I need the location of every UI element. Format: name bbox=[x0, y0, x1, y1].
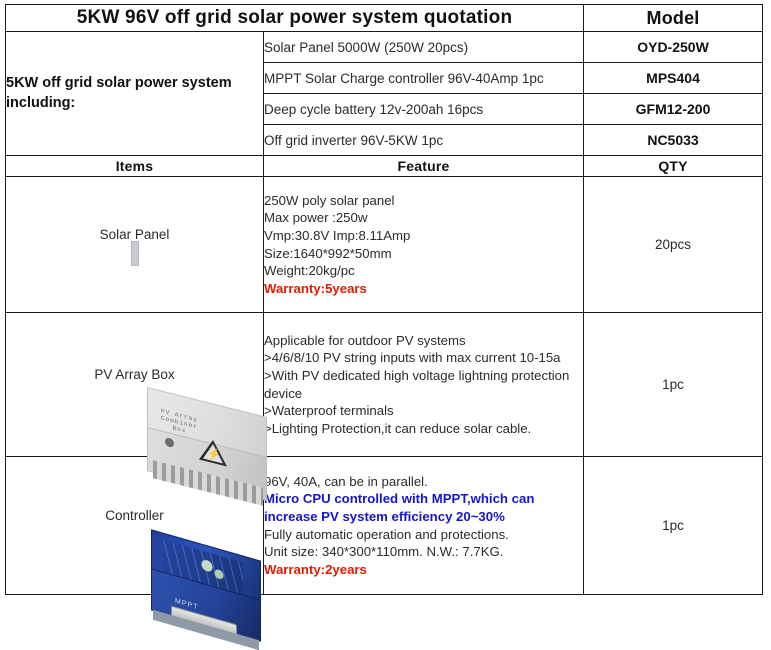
warranty-line: Warranty:5years bbox=[264, 280, 583, 298]
feature-line: 96V, 40A, can be in parallel. bbox=[264, 473, 583, 491]
document-title: 5KW 96V off grid solar power system quot… bbox=[6, 5, 584, 32]
table-row: Solar Panel 250W poly solar panel Max po… bbox=[6, 177, 763, 313]
feature-line: Max power :250w bbox=[264, 209, 583, 227]
component-model: NC5033 bbox=[584, 125, 763, 156]
title-row: 5KW 96V off grid solar power system quot… bbox=[6, 5, 763, 32]
item-cell-pv-array-box: PV Array Box PV Array Combiner Box ⚡ bbox=[6, 313, 264, 457]
summary-row-1: 5KW off grid solar power system includin… bbox=[6, 32, 763, 63]
item-cell-solar-panel: Solar Panel bbox=[6, 177, 264, 313]
feature-cell-solar-panel: 250W poly solar panel Max power :250w Vm… bbox=[264, 177, 584, 313]
feature-line: >4/6/8/10 PV string inputs with max curr… bbox=[264, 349, 583, 367]
solar-panel-icon bbox=[131, 241, 139, 266]
feature-line: Fully automatic operation and protection… bbox=[264, 526, 583, 544]
item-name-label: PV Array Box bbox=[6, 367, 263, 382]
feature-line: Size:1640*992*50mm bbox=[264, 245, 583, 263]
feature-line: Vmp:30.8V Imp:8.11Amp bbox=[264, 227, 583, 245]
warranty-line: Warranty:2years bbox=[264, 561, 583, 579]
feature-line: >Lighting Protection,it can reduce solar… bbox=[264, 420, 583, 438]
items-column-header: Items bbox=[6, 156, 264, 177]
item-name-label: Solar Panel bbox=[6, 227, 263, 242]
feature-line: 250W poly solar panel bbox=[264, 192, 583, 210]
feature-line-highlight: Micro CPU controlled with MPPT,which can… bbox=[264, 490, 583, 525]
feature-cell-controller: 96V, 40A, can be in parallel. Micro CPU … bbox=[264, 457, 584, 595]
component-description: Deep cycle battery 12v-200ah 16pcs bbox=[264, 94, 584, 125]
component-description: Off grid inverter 96V-5KW 1pc bbox=[264, 125, 584, 156]
feature-line: >Waterproof terminals bbox=[264, 402, 583, 420]
component-model: GFM12-200 bbox=[584, 94, 763, 125]
system-including-label: 5KW off grid solar power system includin… bbox=[6, 32, 264, 156]
feature-column-header: Feature bbox=[264, 156, 584, 177]
feature-line: Weight:20kg/pc bbox=[264, 262, 583, 280]
component-model: OYD-250W bbox=[584, 32, 763, 63]
column-header-row: Items Feature QTY bbox=[6, 156, 763, 177]
component-model: MPS404 bbox=[584, 63, 763, 94]
quotation-table: 5KW 96V off grid solar power system quot… bbox=[5, 4, 763, 595]
feature-line: Unit size: 340*300*110mm. N.W.: 7.7KG. bbox=[264, 543, 583, 561]
feature-line: >With PV dedicated high voltage lightnin… bbox=[264, 367, 583, 402]
component-description: MPPT Solar Charge controller 96V-40Amp 1… bbox=[264, 63, 584, 94]
table-row: PV Array Box PV Array Combiner Box ⚡ bbox=[6, 313, 763, 457]
feature-cell-pv-array-box: Applicable for outdoor PV systems >4/6/8… bbox=[264, 313, 584, 457]
feature-line: Applicable for outdoor PV systems bbox=[264, 332, 583, 350]
component-description: Solar Panel 5000W (250W 20pcs) bbox=[264, 32, 584, 63]
item-name-label: Controller bbox=[6, 508, 263, 523]
qty-cell: 1pc bbox=[584, 313, 763, 457]
qty-cell: 20pcs bbox=[584, 177, 763, 313]
qty-cell: 1pc bbox=[584, 457, 763, 595]
model-column-header: Model bbox=[584, 5, 763, 32]
quotation-sheet: 5KW 96V off grid solar power system quot… bbox=[0, 0, 771, 593]
solar-panel-photo bbox=[131, 245, 139, 263]
table-row: Controller MPPT 96V, 40A, can be in bbox=[6, 457, 763, 595]
qty-column-header: QTY bbox=[584, 156, 763, 177]
